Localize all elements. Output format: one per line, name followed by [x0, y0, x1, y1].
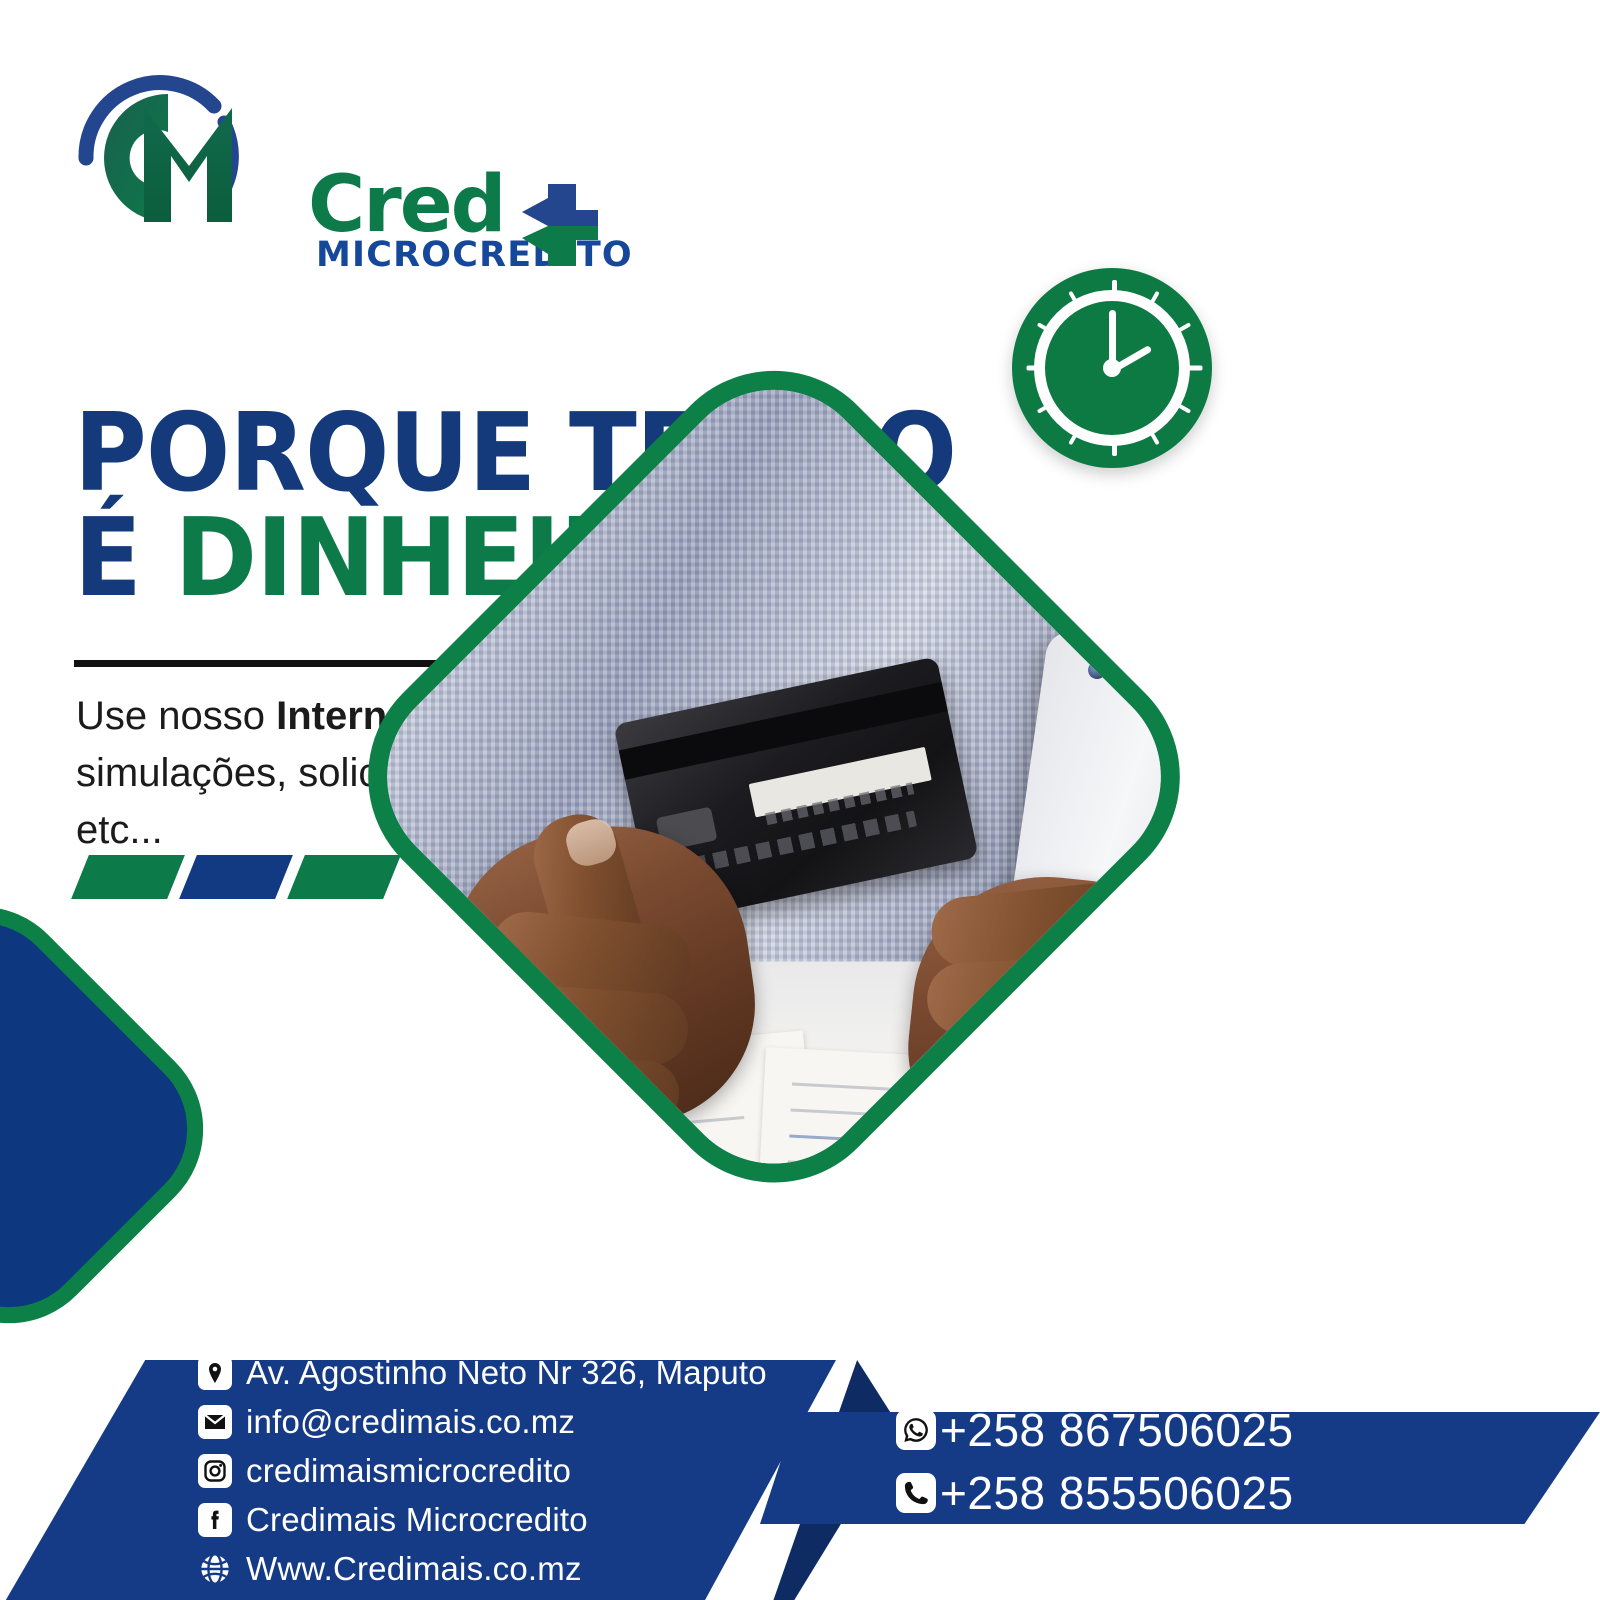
photo-left-finger-4 — [488, 1055, 680, 1128]
phone-telephone-text: +258 855506025 — [940, 1466, 1294, 1520]
phone-row-telephone[interactable]: +258 855506025 — [896, 1461, 1294, 1524]
globe-icon — [198, 1552, 232, 1586]
facebook-icon — [198, 1503, 232, 1537]
contact-instagram-text: credimaismicrocredito — [246, 1452, 571, 1490]
subtitle-part-1: Use nosso — [76, 694, 276, 738]
accent-bar-1 — [71, 855, 185, 899]
photo-right-finger-4 — [942, 1095, 1155, 1168]
contact-row-website[interactable]: Www.Credimais.co.mz — [198, 1544, 838, 1593]
photo-left-finger-3 — [481, 981, 691, 1067]
accent-bar-3 — [287, 855, 401, 899]
instagram-icon — [198, 1454, 232, 1488]
whatsapp-icon — [896, 1410, 936, 1450]
headline-accent-word: É — [74, 496, 141, 621]
contact-email-text: info@credimais.co.mz — [246, 1403, 575, 1441]
accent-bars — [80, 855, 392, 899]
photo-right-finger-3 — [931, 1030, 1163, 1100]
photo-document-1 — [384, 1031, 817, 1232]
phone-whatsapp-text: +258 867506025 — [940, 1403, 1294, 1457]
envelope-icon — [198, 1405, 232, 1439]
contact-row-instagram[interactable]: credimaismicrocredito — [198, 1446, 838, 1495]
accent-bar-2 — [179, 855, 293, 899]
brand-logo: Cred MICROCREDITO — [72, 70, 592, 250]
contact-facebook-text: Credimais Microcredito — [246, 1501, 588, 1539]
photo-document-2 — [757, 1047, 1206, 1231]
clock-icon — [1012, 268, 1212, 468]
phone-list: +258 867506025 +258 855506025 — [896, 1398, 1294, 1524]
cm-monogram-icon — [72, 70, 247, 245]
contact-address-text: Av. Agostinho Neto Nr 326, Maputo — [246, 1354, 767, 1392]
location-pin-icon — [198, 1356, 232, 1390]
contact-list: Av. Agostinho Neto Nr 326, Maputo info@c… — [198, 1348, 838, 1593]
contact-row-address[interactable]: Av. Agostinho Neto Nr 326, Maputo — [198, 1348, 838, 1397]
decorative-blue-diamond — [0, 868, 242, 1363]
phone-row-whatsapp[interactable]: +258 867506025 — [896, 1398, 1294, 1461]
logo-wordmark-primary: Cred — [308, 166, 504, 244]
contact-website-text: Www.Credimais.co.mz — [246, 1550, 582, 1588]
phone-icon — [896, 1473, 936, 1513]
poster-canvas: Cred MICROCREDITO PORQUE TEMPO É DINHEIR… — [0, 0, 1600, 1600]
contact-row-email[interactable]: info@credimais.co.mz — [198, 1397, 838, 1446]
photo-right-finger-2 — [925, 952, 1168, 1036]
plus-cross-icon — [520, 182, 600, 268]
contact-row-facebook[interactable]: Credimais Microcredito — [198, 1495, 838, 1544]
